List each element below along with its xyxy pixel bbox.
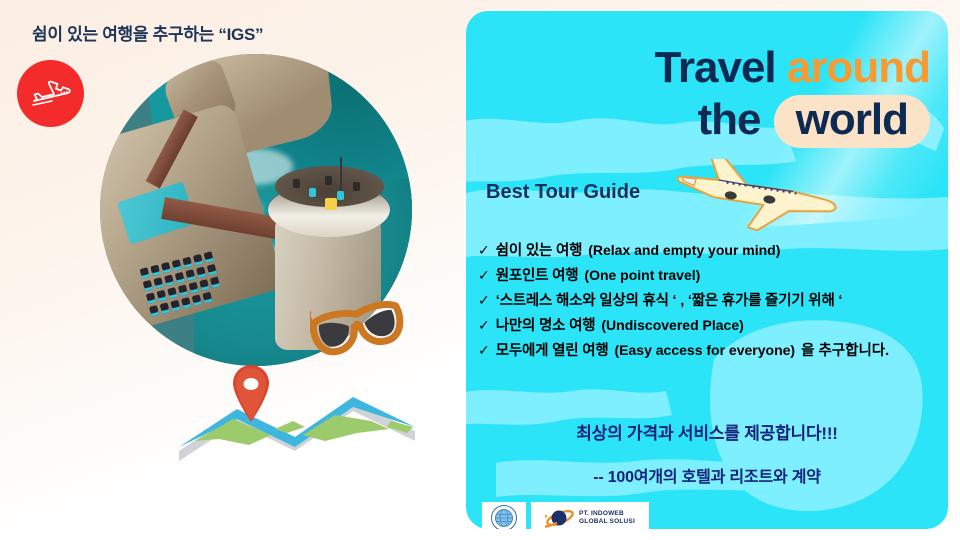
list-item-en: (Easy access for everyone) (615, 342, 796, 358)
headline-word-around: around (787, 43, 930, 92)
page-title: 쉼이 있는 여행을 추구하는 “IGS” (32, 20, 263, 45)
list-item: ✓ 쉼이 있는 여행 (Relax and empty your mind) (478, 239, 942, 260)
list-item: ✓ 모두에게 열린 여행 (Easy access for everyone) … (478, 339, 942, 360)
airplane-takeoff-badge (17, 60, 84, 127)
slide-canvas: 쉼이 있는 여행을 추구하는 “IGS” (0, 0, 960, 540)
info-panel: Travel around the world Best Tour Guide (466, 11, 948, 529)
headline-word-travel: Travel (654, 43, 775, 92)
headline-word-world: world (774, 95, 930, 148)
list-item-ko: ‘스트레스 해소와 일상의 휴식 ‘ , ‘짧은 휴가를 즐기기 위해 ‘ (496, 289, 843, 310)
list-item-en: (Undiscovered Place) (601, 317, 743, 333)
airliner-icon (671, 159, 846, 239)
list-item: ✓ 나만의 명소 여행 (Undiscovered Place) (478, 314, 942, 335)
headline: Travel around the world (466, 45, 930, 148)
check-icon: ✓ (478, 267, 490, 284)
check-icon: ✓ (478, 242, 490, 259)
promo-line-2: -- 100여개의 호텔과 리조트와 계약 (466, 463, 948, 487)
saturn-planet-icon (545, 505, 575, 529)
list-item-ko: 나만의 명소 여행 (496, 314, 596, 335)
sunglasses-icon (310, 295, 418, 365)
list-item-en: (Relax and empty your mind) (588, 242, 780, 258)
promo-line-1: 최상의 가격과 서비스를 제공합니다!!! (466, 419, 948, 444)
map-with-pin-icon (175, 355, 420, 470)
logo-row: PT. INDOWEB GLOBAL SOLUSI (482, 502, 649, 529)
check-icon: ✓ (478, 317, 490, 334)
list-item-ko-tail: 을 추구합니다. (801, 339, 889, 360)
list-item-ko: 모두에게 열린 여행 (496, 339, 609, 360)
location-pin-icon (228, 362, 274, 424)
world-travel-seal-logo (482, 502, 526, 529)
pt-indoweb-global-solusi-logo: PT. INDOWEB GLOBAL SOLUSI (531, 502, 649, 529)
list-item-ko: 쉼이 있는 여행 (496, 239, 583, 260)
airplane-takeoff-icon (30, 79, 72, 109)
check-icon: ✓ (478, 292, 490, 309)
list-item-ko: 원포인트 여행 (496, 264, 579, 285)
headline-word-the: the (697, 95, 760, 144)
list-item: ✓ 원포인트 여행 (One point travel) (478, 264, 942, 285)
logo-text-line2: GLOBAL SOLUSI (579, 518, 635, 526)
feature-list: ✓ 쉼이 있는 여행 (Relax and empty your mind) ✓… (478, 239, 942, 364)
check-icon: ✓ (478, 342, 490, 359)
logo-text-line1: PT. INDOWEB (579, 510, 635, 518)
list-item: ✓ ‘스트레스 해소와 일상의 휴식 ‘ , ‘짧은 휴가를 즐기기 위해 ‘ (478, 289, 942, 310)
list-item-en: (One point travel) (584, 267, 700, 283)
subtitle: Best Tour Guide (486, 181, 640, 204)
